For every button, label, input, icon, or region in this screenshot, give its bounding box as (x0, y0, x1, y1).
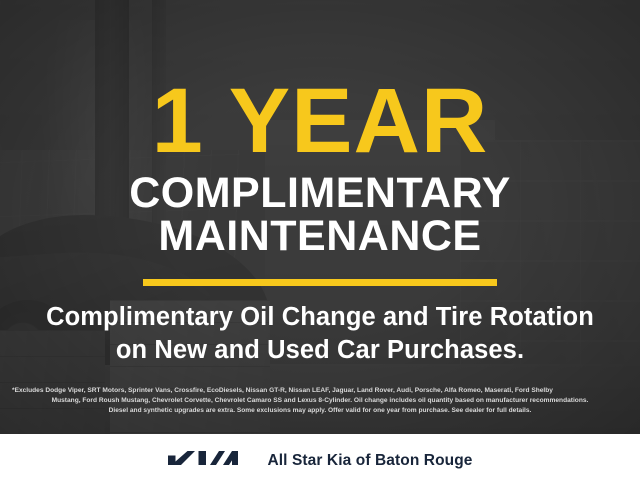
hero-content: 1 YEAR COMPLIMENTARY MAINTENANCE Complim… (0, 0, 640, 434)
disclaimer-line-3: Diesel and synthetic upgrades are extra.… (12, 406, 628, 416)
dealer-name: All Star Kia of Baton Rouge (267, 452, 472, 470)
tagline-line-1: Complimentary Oil Change and Tire Rotati… (46, 301, 594, 334)
subheadline-complimentary: COMPLIMENTARY (129, 172, 511, 216)
hero-section: 1 YEAR COMPLIMENTARY MAINTENANCE Complim… (0, 0, 640, 434)
tagline-line-2: on New and Used Car Purchases. (46, 334, 594, 367)
kia-logo (167, 448, 245, 474)
disclaimer-line-2: Mustang, Ford Roush Mustang, Chevrolet C… (12, 396, 628, 406)
tagline: Complimentary Oil Change and Tire Rotati… (46, 301, 594, 366)
footer-bar: All Star Kia of Baton Rouge (0, 434, 640, 488)
disclaimer-text: *Excludes Dodge Viper, SRT Motors, Sprin… (12, 386, 628, 416)
headline-1-year: 1 YEAR (152, 79, 489, 164)
promotional-banner: 1 YEAR COMPLIMENTARY MAINTENANCE Complim… (0, 0, 640, 488)
disclaimer-line-1: *Excludes Dodge Viper, SRT Motors, Sprin… (12, 386, 628, 396)
subheadline-maintenance: MAINTENANCE (158, 215, 481, 259)
yellow-divider-bar (143, 279, 497, 286)
